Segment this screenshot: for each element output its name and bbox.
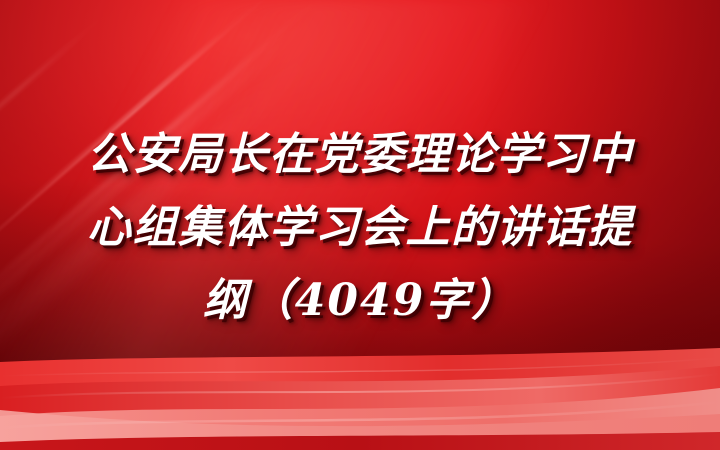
title-line-3: 纲（4049字） bbox=[0, 264, 720, 337]
banner-canvas: 公安局长在党委理论学习中 心组集体学习会上的讲话提 纲（4049字） bbox=[0, 0, 720, 450]
banner-title: 公安局长在党委理论学习中 心组集体学习会上的讲话提 纲（4049字） bbox=[0, 118, 720, 337]
title-line-2: 心组集体学习会上的讲话提 bbox=[0, 191, 720, 264]
title-line-1: 公安局长在党委理论学习中 bbox=[0, 118, 720, 191]
bottom-ribbon-waves bbox=[0, 340, 720, 450]
